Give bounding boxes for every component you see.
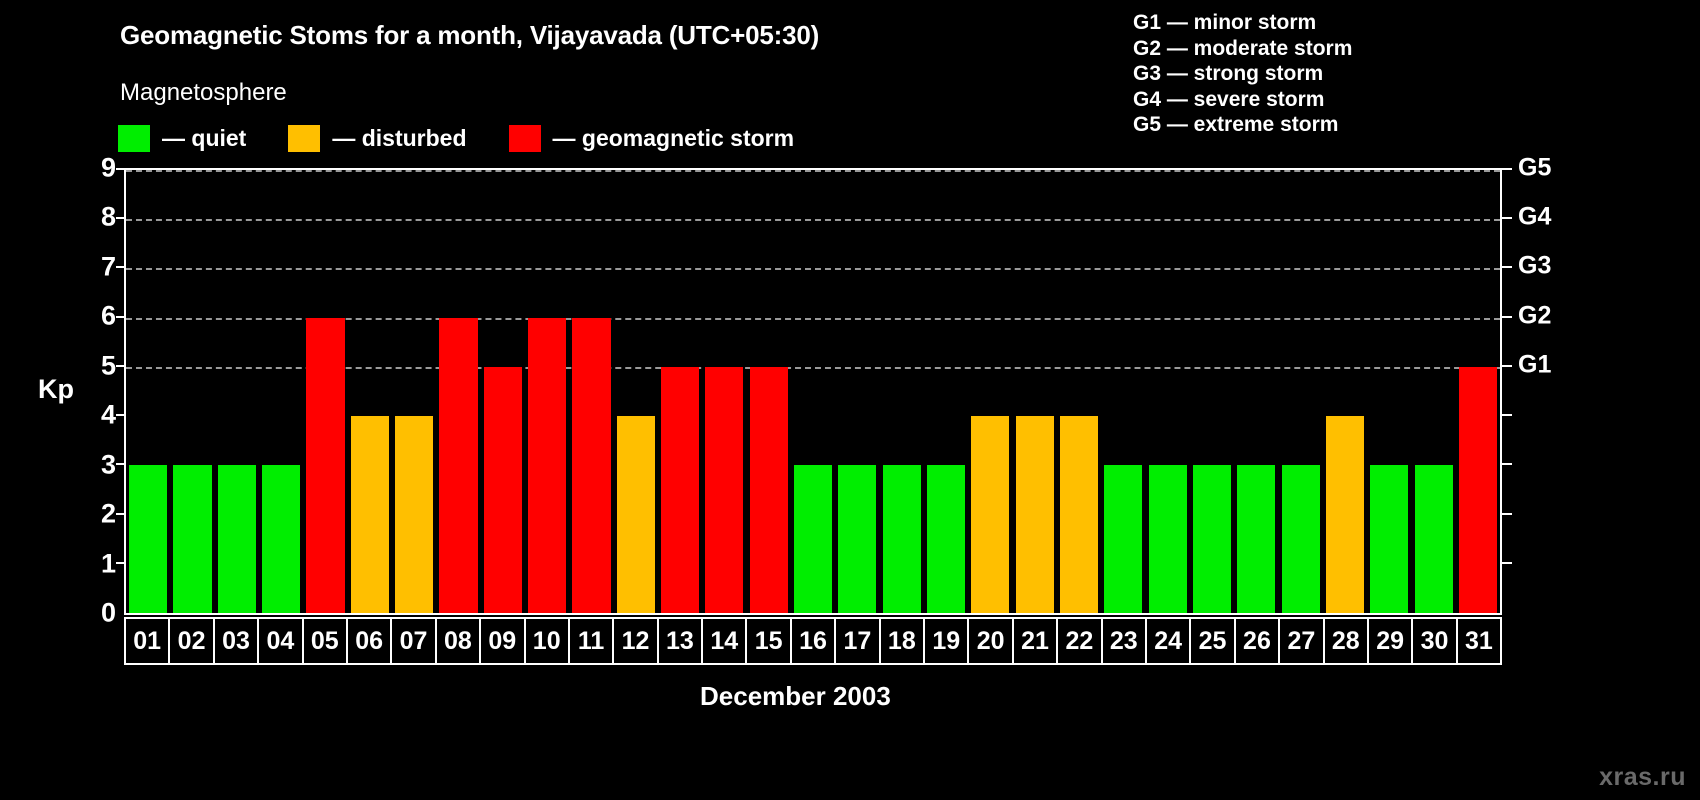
day-label-01[interactable]: 01 <box>126 619 170 663</box>
day-label-12[interactable]: 12 <box>614 619 658 663</box>
bar-slot-day-21[interactable] <box>1013 170 1057 613</box>
bar-slot-day-28[interactable] <box>1323 170 1367 613</box>
bar-day-19[interactable] <box>927 465 965 613</box>
legend-label-quiet: — quiet <box>162 125 246 152</box>
bar-slot-day-27[interactable] <box>1279 170 1323 613</box>
legend-item-quiet: — quiet <box>118 125 246 152</box>
bar-day-22[interactable] <box>1060 416 1098 613</box>
bar-day-06[interactable] <box>351 416 389 613</box>
bar-series <box>126 170 1500 613</box>
y-axis: 0123456789 <box>78 168 116 613</box>
g-tick-mark-kp-1 <box>1502 562 1512 564</box>
bar-slot-day-12[interactable] <box>614 170 658 613</box>
bar-day-12[interactable] <box>617 416 655 613</box>
bar-day-29[interactable] <box>1370 465 1408 613</box>
day-label-16[interactable]: 16 <box>792 619 836 663</box>
bar-slot-day-06[interactable] <box>348 170 392 613</box>
g-tick-label-g1: G1 <box>1518 350 1551 379</box>
y-axis-title: Kp <box>38 374 74 405</box>
g-tick-mark-kp-3 <box>1502 463 1512 465</box>
gscale-line-g2: G2 — moderate storm <box>1133 36 1352 62</box>
bar-slot-day-31[interactable] <box>1456 170 1500 613</box>
legend-item-storm: — geomagnetic storm <box>509 125 795 152</box>
y-tick-mark-5 <box>116 365 125 367</box>
bar-slot-day-29[interactable] <box>1367 170 1411 613</box>
y-tick-label-4: 4 <box>78 400 116 431</box>
y-tick-mark-1 <box>116 562 125 564</box>
g-tick-mark-kp-5 <box>1502 365 1512 367</box>
bar-day-24[interactable] <box>1149 465 1187 613</box>
y-tick-label-6: 6 <box>78 301 116 332</box>
bar-slot-day-30[interactable] <box>1412 170 1456 613</box>
g-tick-mark-kp-8 <box>1502 217 1512 219</box>
day-label-13[interactable]: 13 <box>659 619 703 663</box>
day-label-20[interactable]: 20 <box>969 619 1013 663</box>
bar-slot-day-24[interactable] <box>1146 170 1190 613</box>
day-label-07[interactable]: 07 <box>392 619 436 663</box>
g-tick-mark-kp-9 <box>1502 168 1512 170</box>
bar-day-16[interactable] <box>794 465 832 613</box>
g-tick-mark-kp-4 <box>1502 414 1512 416</box>
legend-item-disturbed: — disturbed <box>288 125 466 152</box>
g-tick-mark-kp-2 <box>1502 513 1512 515</box>
y-tick-mark-4 <box>116 414 125 416</box>
bar-day-11[interactable] <box>572 318 610 613</box>
bar-slot-day-04[interactable] <box>259 170 303 613</box>
bar-day-09[interactable] <box>484 367 522 613</box>
day-label-03[interactable]: 03 <box>215 619 259 663</box>
g-tick-mark-kp-7 <box>1502 266 1512 268</box>
day-label-21[interactable]: 21 <box>1014 619 1058 663</box>
watermark: xras.ru <box>1599 763 1686 792</box>
y-tick-label-3: 3 <box>78 449 116 480</box>
bar-day-07[interactable] <box>395 416 433 613</box>
bar-slot-day-19[interactable] <box>924 170 968 613</box>
bar-day-31[interactable] <box>1459 367 1497 613</box>
day-label-22[interactable]: 22 <box>1058 619 1102 663</box>
bar-slot-day-14[interactable] <box>702 170 746 613</box>
bar-slot-day-22[interactable] <box>1057 170 1101 613</box>
x-axis-title: December 2003 <box>700 681 891 712</box>
bar-slot-day-20[interactable] <box>968 170 1012 613</box>
y-tick-label-5: 5 <box>78 350 116 381</box>
legend-label-storm: — geomagnetic storm <box>553 125 795 152</box>
gscale-legend: G1 — minor storm G2 — moderate storm G3 … <box>1133 10 1352 138</box>
bar-day-02[interactable] <box>173 465 211 613</box>
g-tick-label-g2: G2 <box>1518 301 1551 330</box>
bar-day-20[interactable] <box>971 416 1009 613</box>
gscale-line-g1: G1 — minor storm <box>1133 10 1352 36</box>
bar-slot-day-26[interactable] <box>1234 170 1278 613</box>
gscale-line-g4: G4 — severe storm <box>1133 87 1352 113</box>
x-axis-day-labels: 0102030405060708091011121314151617181920… <box>124 617 1502 665</box>
day-label-28[interactable]: 28 <box>1325 619 1369 663</box>
bar-slot-day-05[interactable] <box>303 170 347 613</box>
day-label-15[interactable]: 15 <box>747 619 791 663</box>
bar-day-21[interactable] <box>1016 416 1054 613</box>
day-label-17[interactable]: 17 <box>836 619 880 663</box>
gscale-line-g3: G3 — strong storm <box>1133 61 1352 87</box>
bar-slot-day-03[interactable] <box>215 170 259 613</box>
bar-slot-day-09[interactable] <box>481 170 525 613</box>
plot-area <box>124 168 1502 615</box>
bar-day-26[interactable] <box>1237 465 1275 613</box>
bar-day-25[interactable] <box>1193 465 1231 613</box>
legend-swatch-storm-icon <box>509 125 541 152</box>
day-label-06[interactable]: 06 <box>348 619 392 663</box>
y-tick-label-2: 2 <box>78 499 116 530</box>
bar-slot-day-18[interactable] <box>880 170 924 613</box>
day-label-10[interactable]: 10 <box>526 619 570 663</box>
day-label-08[interactable]: 08 <box>437 619 481 663</box>
day-label-30[interactable]: 30 <box>1413 619 1457 663</box>
legend-swatch-quiet-icon <box>118 125 150 152</box>
bar-day-30[interactable] <box>1415 465 1453 613</box>
plot-inner <box>126 170 1500 613</box>
bar-day-23[interactable] <box>1104 465 1142 613</box>
bar-slot-day-10[interactable] <box>525 170 569 613</box>
day-label-31[interactable]: 31 <box>1458 619 1500 663</box>
y-tick-mark-3 <box>116 463 125 465</box>
bar-slot-day-23[interactable] <box>1101 170 1145 613</box>
magnetosphere-heading: Magnetosphere <box>120 79 287 107</box>
y-tick-label-1: 1 <box>78 548 116 579</box>
legend-label-disturbed: — disturbed <box>332 125 466 152</box>
bar-slot-day-02[interactable] <box>170 170 214 613</box>
y-tick-mark-6 <box>116 316 125 318</box>
day-label-05[interactable]: 05 <box>304 619 348 663</box>
y-tick-mark-7 <box>116 266 125 268</box>
bar-day-18[interactable] <box>883 465 921 613</box>
bar-day-13[interactable] <box>661 367 699 613</box>
bar-day-03[interactable] <box>218 465 256 613</box>
day-label-04[interactable]: 04 <box>259 619 303 663</box>
magnetosphere-legend: — quiet — disturbed — geomagnetic storm <box>118 123 794 153</box>
bar-slot-day-13[interactable] <box>658 170 702 613</box>
day-label-23[interactable]: 23 <box>1103 619 1147 663</box>
page-title: Geomagnetic Stoms for a month, Vijayavad… <box>120 20 819 51</box>
bar-day-15[interactable] <box>750 367 788 613</box>
y-tick-mark-8 <box>116 217 125 219</box>
day-label-25[interactable]: 25 <box>1191 619 1235 663</box>
y-tick-label-8: 8 <box>78 202 116 233</box>
legend-swatch-disturbed-icon <box>288 125 320 152</box>
bar-slot-day-01[interactable] <box>126 170 170 613</box>
bar-day-10[interactable] <box>528 318 566 613</box>
bar-day-28[interactable] <box>1326 416 1364 613</box>
day-label-27[interactable]: 27 <box>1280 619 1324 663</box>
day-label-19[interactable]: 19 <box>925 619 969 663</box>
bar-slot-day-25[interactable] <box>1190 170 1234 613</box>
g-tick-label-g3: G3 <box>1518 252 1551 281</box>
day-label-29[interactable]: 29 <box>1369 619 1413 663</box>
day-label-11[interactable]: 11 <box>570 619 614 663</box>
y-tick-label-0: 0 <box>78 598 116 629</box>
bar-day-04[interactable] <box>262 465 300 613</box>
gscale-line-g5: G5 — extreme storm <box>1133 112 1352 138</box>
bar-day-14[interactable] <box>705 367 743 613</box>
g-tick-label-g5: G5 <box>1518 154 1551 183</box>
g-tick-label-g4: G4 <box>1518 203 1551 232</box>
bar-slot-day-11[interactable] <box>569 170 613 613</box>
day-label-26[interactable]: 26 <box>1236 619 1280 663</box>
bar-slot-day-17[interactable] <box>835 170 879 613</box>
bar-slot-day-08[interactable] <box>436 170 480 613</box>
g-tick-mark-kp-6 <box>1502 316 1512 318</box>
y-tick-label-7: 7 <box>78 251 116 282</box>
y-tick-mark-9 <box>116 168 125 170</box>
day-label-14[interactable]: 14 <box>703 619 747 663</box>
bar-slot-day-15[interactable] <box>747 170 791 613</box>
day-label-24[interactable]: 24 <box>1147 619 1191 663</box>
bar-slot-day-07[interactable] <box>392 170 436 613</box>
bar-day-27[interactable] <box>1282 465 1320 613</box>
day-label-09[interactable]: 09 <box>481 619 525 663</box>
bar-day-01[interactable] <box>129 465 167 613</box>
y-tick-mark-2 <box>116 513 125 515</box>
y-tick-label-9: 9 <box>78 153 116 184</box>
day-label-18[interactable]: 18 <box>881 619 925 663</box>
bar-day-08[interactable] <box>439 318 477 613</box>
g-scale-axis: G1G2G3G4G5 <box>1500 168 1620 613</box>
bar-day-05[interactable] <box>306 318 344 613</box>
bar-slot-day-16[interactable] <box>791 170 835 613</box>
bar-day-17[interactable] <box>838 465 876 613</box>
day-label-02[interactable]: 02 <box>170 619 214 663</box>
